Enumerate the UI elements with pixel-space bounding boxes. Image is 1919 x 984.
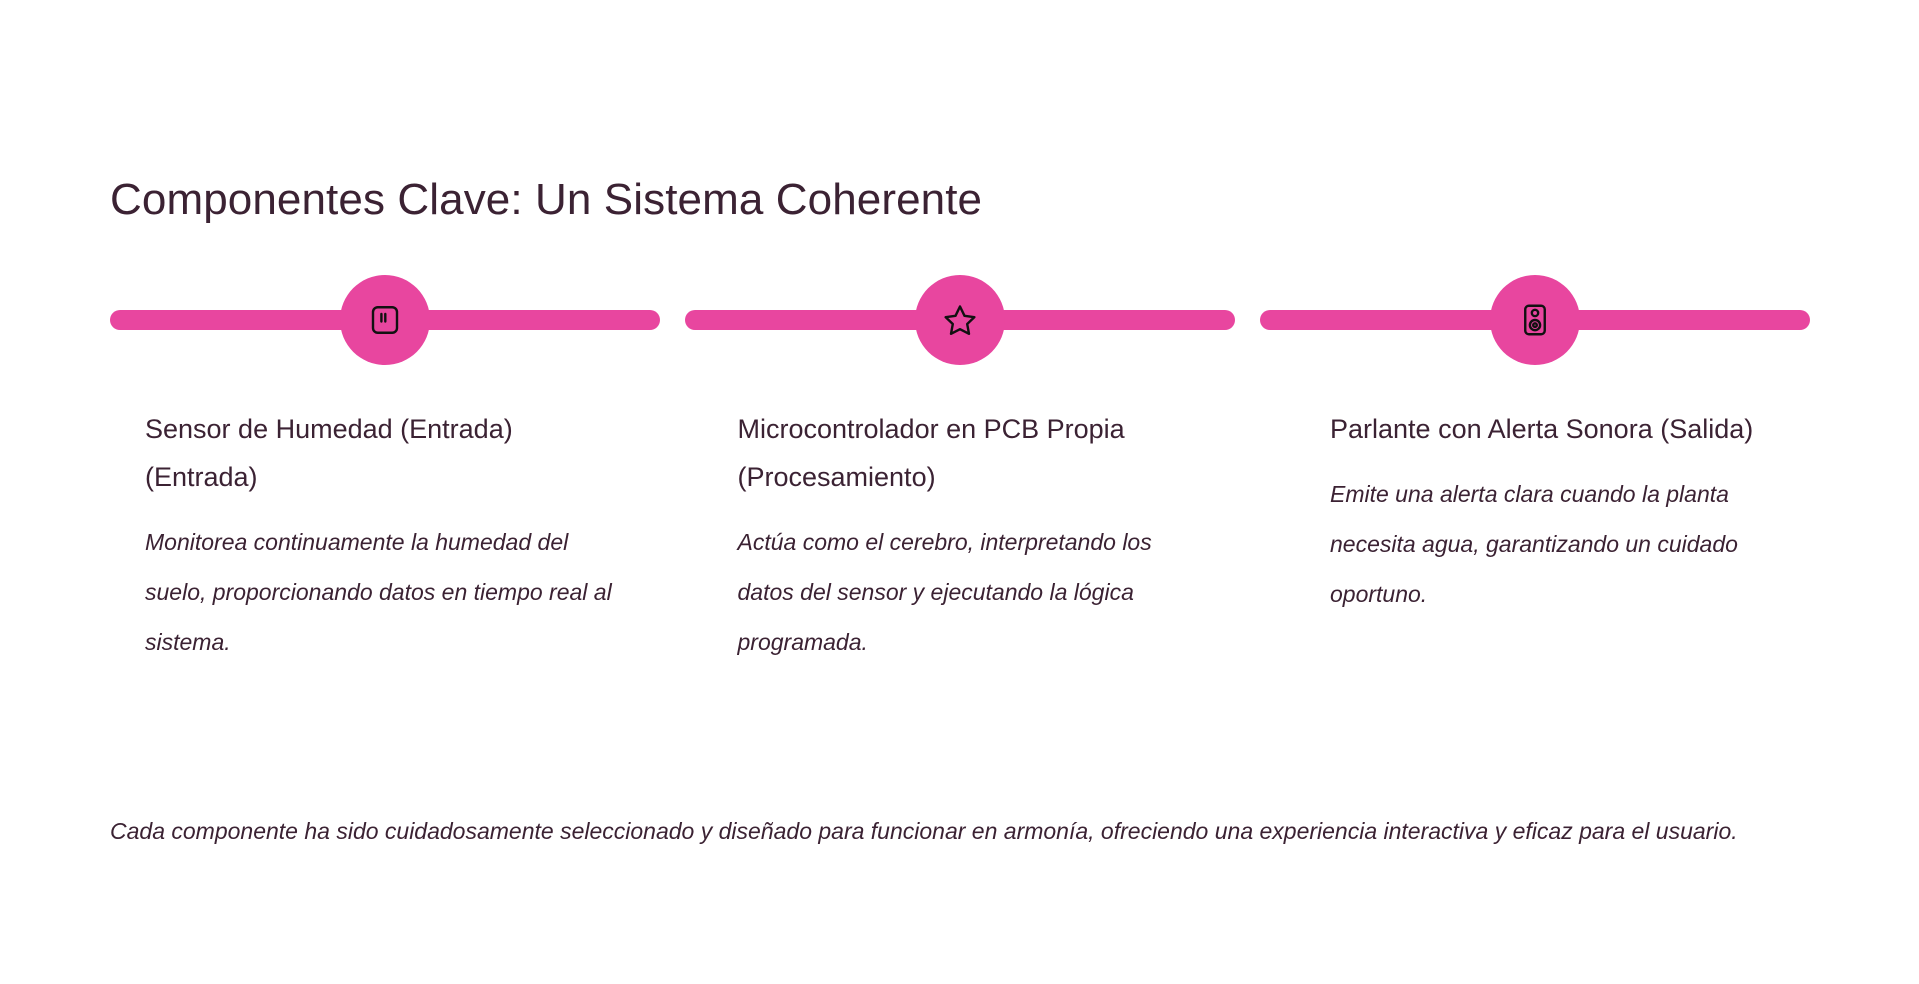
component-card-3: Parlante con Alerta Sonora (Salida) Emit…	[1300, 405, 1810, 667]
component-description: Actúa como el cerebro, interpretando los…	[738, 517, 1208, 667]
component-card-1: Sensor de Humedad (Entrada) (Entrada) Mo…	[110, 405, 625, 667]
slide-root: Componentes Clave: Un Sistema Coherente	[0, 0, 1919, 984]
timeline-segment-1	[110, 275, 660, 365]
timeline-segment-2	[685, 275, 1235, 365]
timeline-node-3[interactable]	[1490, 275, 1580, 365]
component-title: Parlante con Alerta Sonora (Salida)	[1330, 405, 1790, 453]
component-card-2: Microcontrolador en PCB Propia (Procesam…	[708, 405, 1218, 667]
timeline	[110, 275, 1810, 365]
timeline-node-2[interactable]	[915, 275, 1005, 365]
component-description: Monitorea continuamente la humedad del s…	[145, 517, 615, 667]
timeline-segment-3	[1260, 275, 1810, 365]
component-cards: Sensor de Humedad (Entrada) (Entrada) Mo…	[110, 405, 1810, 667]
speaker-icon	[1517, 302, 1553, 338]
component-description: Emite una alerta clara cuando la planta …	[1330, 469, 1800, 619]
component-title: Sensor de Humedad (Entrada) (Entrada)	[145, 405, 605, 501]
page-title: Componentes Clave: Un Sistema Coherente	[110, 172, 982, 228]
timeline-node-1[interactable]	[340, 275, 430, 365]
footer-note: Cada componente ha sido cuidadosamente s…	[110, 805, 1840, 857]
star-icon	[942, 302, 978, 338]
component-title: Microcontrolador en PCB Propia (Procesam…	[738, 405, 1198, 501]
sensor-module-icon	[367, 302, 403, 338]
